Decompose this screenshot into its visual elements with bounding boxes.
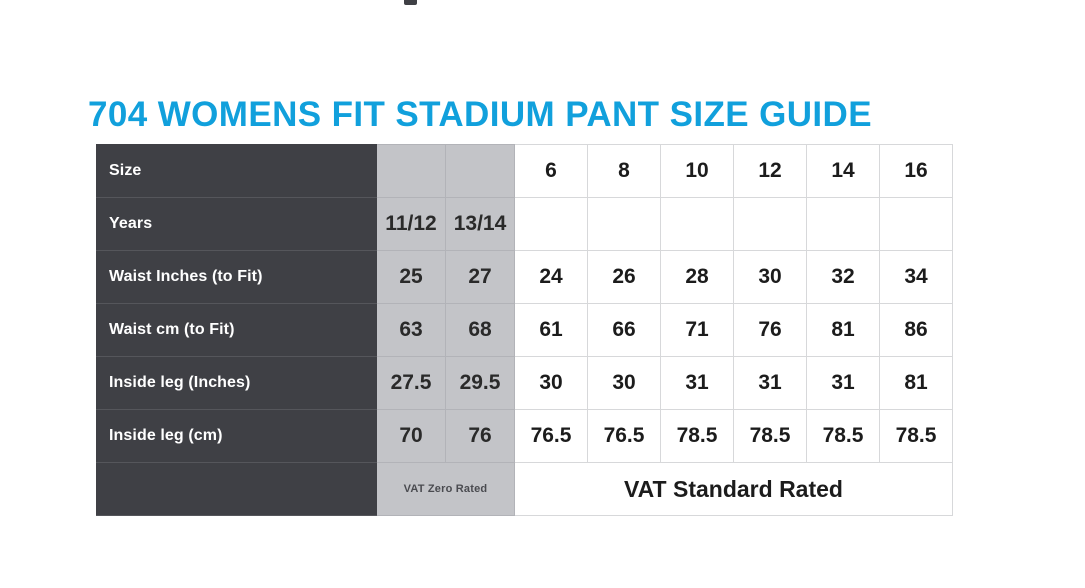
cell-years-16 — [880, 198, 953, 251]
cell-years-grey-1: 11/12 — [377, 198, 446, 251]
cell-years-grey-2: 13/14 — [446, 198, 515, 251]
cell-waist-cm-8: 66 — [588, 304, 661, 357]
vat-zero-rated-cell: VAT Zero Rated — [377, 463, 515, 516]
cell-waist-cm-10: 71 — [661, 304, 734, 357]
table-row-vat-footer: VAT Zero Rated VAT Standard Rated — [97, 463, 953, 516]
table-row-years: Years 11/12 13/14 — [97, 198, 953, 251]
vat-standard-rated-cell: VAT Standard Rated — [515, 463, 953, 516]
cell-waist-cm-16: 86 — [880, 304, 953, 357]
cell-size-8: 8 — [588, 145, 661, 198]
cell-years-10 — [661, 198, 734, 251]
cell-waist-cm-6: 61 — [515, 304, 588, 357]
cell-waist-inches-14: 32 — [807, 251, 880, 304]
cell-years-14 — [807, 198, 880, 251]
table-row-waist-inches: Waist Inches (to Fit) 25 27 24 26 28 30 … — [97, 251, 953, 304]
cell-inside-leg-cm-grey-1: 70 — [377, 410, 446, 463]
table-row-waist-cm: Waist cm (to Fit) 63 68 61 66 71 76 81 8… — [97, 304, 953, 357]
cell-size-grey-1 — [377, 145, 446, 198]
table-row-inside-leg-inches: Inside leg (Inches) 27.5 29.5 30 30 31 3… — [97, 357, 953, 410]
cell-waist-cm-12: 76 — [734, 304, 807, 357]
row-label-waist-inches: Waist Inches (to Fit) — [97, 251, 377, 304]
cell-waist-cm-14: 81 — [807, 304, 880, 357]
clipped-text-fragment — [404, 0, 417, 5]
cell-inside-leg-inches-14: 31 — [807, 357, 880, 410]
cell-waist-inches-8: 26 — [588, 251, 661, 304]
cell-size-16: 16 — [880, 145, 953, 198]
cell-inside-leg-cm-12: 78.5 — [734, 410, 807, 463]
cell-inside-leg-cm-16: 78.5 — [880, 410, 953, 463]
cell-inside-leg-cm-8: 76.5 — [588, 410, 661, 463]
cell-waist-cm-grey-1: 63 — [377, 304, 446, 357]
table-row-size: Size 6 8 10 12 14 16 — [97, 145, 953, 198]
cell-inside-leg-cm-6: 76.5 — [515, 410, 588, 463]
cell-waist-inches-grey-1: 25 — [377, 251, 446, 304]
cell-waist-inches-10: 28 — [661, 251, 734, 304]
cell-inside-leg-inches-6: 30 — [515, 357, 588, 410]
size-guide-table: Size 6 8 10 12 14 16 Years 11/12 13/14 W… — [96, 144, 953, 516]
cell-inside-leg-cm-grey-2: 76 — [446, 410, 515, 463]
row-label-inside-leg-inches: Inside leg (Inches) — [97, 357, 377, 410]
cell-waist-inches-grey-2: 27 — [446, 251, 515, 304]
cell-years-12 — [734, 198, 807, 251]
cell-inside-leg-inches-10: 31 — [661, 357, 734, 410]
page-title: 704 WOMENS FIT STADIUM PANT SIZE GUIDE — [88, 95, 872, 135]
row-label-size: Size — [97, 145, 377, 198]
row-label-waist-cm: Waist cm (to Fit) — [97, 304, 377, 357]
cell-inside-leg-inches-16: 81 — [880, 357, 953, 410]
cell-years-6 — [515, 198, 588, 251]
cell-waist-inches-12: 30 — [734, 251, 807, 304]
table-row-inside-leg-cm: Inside leg (cm) 70 76 76.5 76.5 78.5 78.… — [97, 410, 953, 463]
cell-size-6: 6 — [515, 145, 588, 198]
row-label-vat-footer — [97, 463, 377, 516]
row-label-inside-leg-cm: Inside leg (cm) — [97, 410, 377, 463]
cell-size-grey-2 — [446, 145, 515, 198]
cell-inside-leg-cm-10: 78.5 — [661, 410, 734, 463]
cell-inside-leg-cm-14: 78.5 — [807, 410, 880, 463]
cell-years-8 — [588, 198, 661, 251]
cell-inside-leg-inches-8: 30 — [588, 357, 661, 410]
cell-size-10: 10 — [661, 145, 734, 198]
cell-inside-leg-inches-grey-2: 29.5 — [446, 357, 515, 410]
cell-waist-inches-16: 34 — [880, 251, 953, 304]
cell-size-12: 12 — [734, 145, 807, 198]
cell-waist-cm-grey-2: 68 — [446, 304, 515, 357]
cell-waist-inches-6: 24 — [515, 251, 588, 304]
cell-inside-leg-inches-12: 31 — [734, 357, 807, 410]
cell-inside-leg-inches-grey-1: 27.5 — [377, 357, 446, 410]
row-label-years: Years — [97, 198, 377, 251]
cell-size-14: 14 — [807, 145, 880, 198]
